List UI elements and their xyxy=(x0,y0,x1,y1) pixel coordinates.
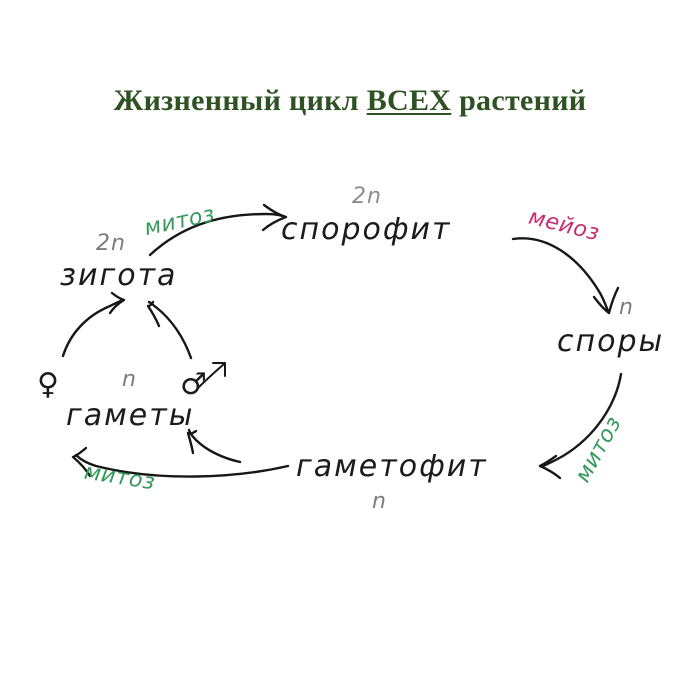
stage-label-gametophyte: гаметофит xyxy=(296,449,488,484)
arrow-female-gamete-to-zygote xyxy=(63,293,124,356)
arrow-male-gamete-to-zygote xyxy=(148,302,191,358)
female-symbol-icon: ♀ xyxy=(37,367,60,402)
process-label-mitosis-zygote-to-sporophyte: митоз xyxy=(142,202,217,241)
ploidy-label-sporophyte: 2n xyxy=(352,184,382,209)
ploidy-label-spores: n xyxy=(619,295,634,320)
arrow-gametophyte-inner-hook xyxy=(188,430,240,462)
stage-label-gametes: гаметы xyxy=(66,398,194,433)
process-label-mitosis-gametophyte-to-gametes: митоз xyxy=(82,460,156,496)
page-title-emphasis: ВСЕХ xyxy=(367,84,452,117)
diagram-canvas: Жизненный цикл ВСЕХ растений xyxy=(0,0,700,700)
ploidy-label-zygote: 2n xyxy=(96,231,126,256)
page-title: Жизненный цикл ВСЕХ растений xyxy=(0,84,700,118)
page-title-prefix: Жизненный цикл xyxy=(114,84,367,117)
ploidy-label-gametes: n xyxy=(122,367,137,392)
male-symbol-icon: ♂ xyxy=(180,367,208,402)
stage-label-zygote: зигота xyxy=(60,258,177,293)
arrow-sporophyte-to-spores xyxy=(513,238,618,313)
page-title-suffix: растений xyxy=(451,84,586,117)
process-label-meiosis-sporophyte-to-spores: мейоз xyxy=(526,205,602,247)
process-label-mitosis-spores-to-gametophyte: митоз xyxy=(570,412,626,487)
ploidy-label-gametophyte: n xyxy=(372,489,387,514)
stage-label-sporophyte: спорофит xyxy=(281,212,451,247)
stage-label-spores: споры xyxy=(557,324,664,359)
